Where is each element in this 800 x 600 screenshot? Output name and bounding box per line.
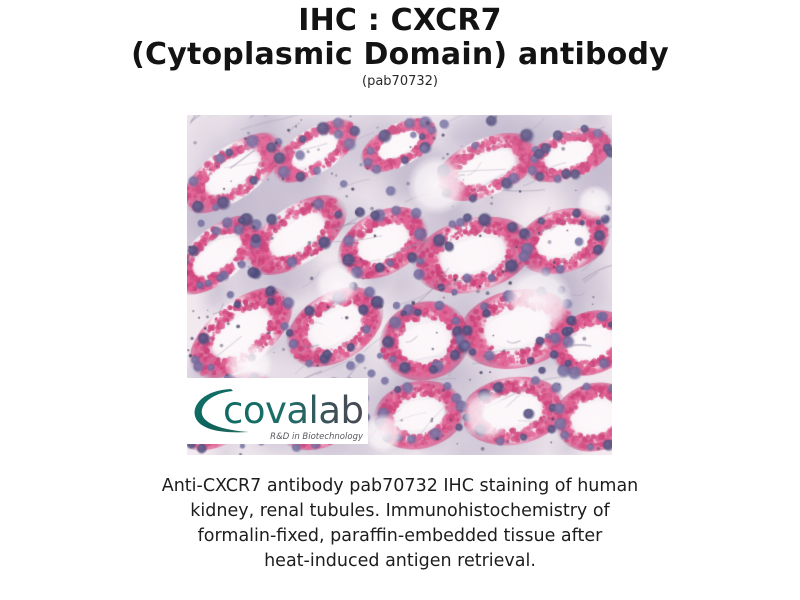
covalab-logo-watermark: covalab R&D in Biotechnology [187,378,368,444]
logo-wordmark: covalab [223,389,364,432]
catalog-number: (pab70732) [0,74,800,90]
page-title-line-2: (Cytoplasmic Domain) antibody [0,38,800,72]
page-title-line-1: IHC : CXCR7 [0,4,800,38]
caption-line-1: Anti-CXCR7 antibody pab70732 IHC stainin… [100,474,700,499]
caption-line-2: kidney, renal tubules. Immunohistochemis… [100,499,700,524]
logo-tagline: R&D in Biotechnology [270,432,364,442]
figure-page: IHC : CXCR7 (Cytoplasmic Domain) antibod… [0,0,800,600]
title-block: IHC : CXCR7 (Cytoplasmic Domain) antibod… [0,4,800,90]
figure-caption: Anti-CXCR7 antibody pab70732 IHC stainin… [100,474,700,574]
covalab-logo-svg: covalab R&D in Biotechnology [187,378,368,444]
caption-line-4: heat-induced antigen retrieval. [100,549,700,574]
caption-line-3: formalin-fixed, paraffin-embedded tissue… [100,524,700,549]
